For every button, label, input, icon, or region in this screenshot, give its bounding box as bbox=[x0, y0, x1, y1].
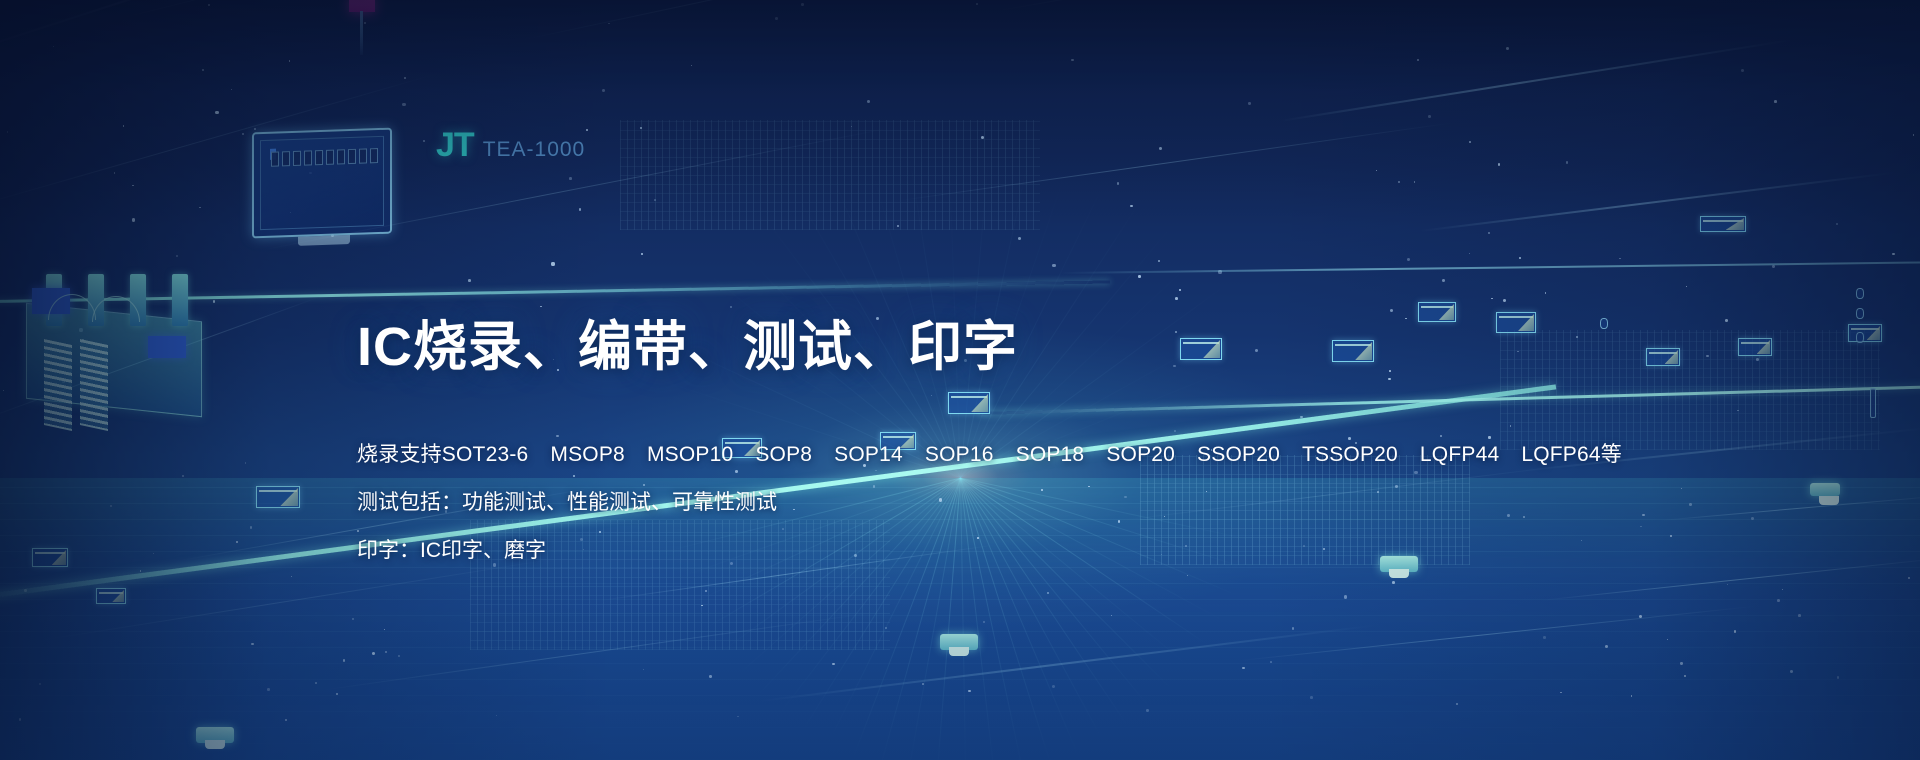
burn-support-line: 烧录支持SOT23-6MSOP8MSOP10SOP8SOP14SOP16SOP1… bbox=[357, 444, 1622, 465]
marking-scope-line: 印字：IC印字、磨字 bbox=[357, 540, 546, 561]
package-type: LQFP64等 bbox=[1521, 443, 1622, 466]
light-streak bbox=[120, 0, 528, 19]
package-type: SOP16 bbox=[925, 443, 994, 466]
package-type: LQFP44 bbox=[1420, 443, 1499, 466]
light-streak bbox=[1540, 556, 1920, 601]
ic-chip-icon bbox=[96, 588, 126, 604]
component-dot-icon bbox=[1600, 318, 1608, 329]
floor-light-rays bbox=[0, 478, 1920, 760]
monitor-icon bbox=[252, 128, 392, 239]
light-streak bbox=[520, 0, 1205, 41]
status-indicator-light bbox=[349, 0, 375, 12]
light-streak bbox=[1240, 606, 1757, 661]
package-type: SOP8 bbox=[755, 443, 812, 466]
package-type: MSOP8 bbox=[550, 443, 625, 466]
component-dot-icon bbox=[1856, 332, 1864, 343]
ic-chip-icon bbox=[948, 392, 990, 414]
component-dot-icon bbox=[1856, 288, 1864, 299]
package-type: MSOP10 bbox=[647, 443, 733, 466]
light-streak bbox=[1420, 172, 1897, 232]
rail-mount bbox=[1810, 483, 1840, 496]
component-dot-icon bbox=[1870, 388, 1876, 418]
package-type: SSOP20 bbox=[1197, 443, 1280, 466]
circuit-trace-texture bbox=[620, 120, 1040, 230]
package-type: SOP20 bbox=[1106, 443, 1175, 466]
ic-chip-icon bbox=[1848, 324, 1882, 342]
page-title: IC烧录、编带、测试、印字 bbox=[357, 316, 1457, 380]
light-streak bbox=[1660, 494, 1920, 521]
upper-ledge-right bbox=[1060, 261, 1920, 274]
brand-mark: JT bbox=[436, 126, 474, 165]
ic-chip-icon bbox=[32, 548, 68, 567]
ic-chip-icon bbox=[1738, 338, 1772, 356]
ic-chip-icon bbox=[1646, 348, 1680, 366]
burn-support-prefix: 烧录支持SOT23-6 bbox=[357, 443, 528, 466]
machinery-icon bbox=[18, 266, 218, 436]
component-dot-icon bbox=[1856, 308, 1864, 319]
ic-chip-icon bbox=[256, 486, 300, 508]
package-type: SOP18 bbox=[1016, 443, 1085, 466]
banner-text-block: IC烧录、编带、测试、印字 烧录支持SOT23-6MSOP8MSOP10SOP8… bbox=[357, 316, 1457, 380]
rail-mount bbox=[1380, 556, 1418, 572]
rail-mount bbox=[196, 727, 234, 743]
ic-services-banner: JT TEA-1000 IC烧录、编带、测试、印字 烧录支持SOT23-6MSO… bbox=[0, 0, 1920, 760]
ic-chip-icon bbox=[1700, 216, 1746, 232]
equipment-logo: JT TEA-1000 bbox=[436, 126, 585, 165]
rail-mount bbox=[940, 634, 978, 650]
light-streak bbox=[1280, 39, 1794, 122]
circuit-trace-texture bbox=[1140, 455, 1470, 565]
light-streak bbox=[1000, 0, 1591, 11]
package-type: TSSOP20 bbox=[1302, 443, 1398, 466]
package-type: SOP14 bbox=[834, 443, 903, 466]
test-scope-line: 测试包括：功能测试、性能测试、可靠性测试 bbox=[357, 492, 777, 513]
model-number: TEA-1000 bbox=[483, 138, 586, 162]
perspective-floor-grid bbox=[0, 478, 1920, 760]
ic-chip-icon bbox=[1496, 312, 1536, 333]
